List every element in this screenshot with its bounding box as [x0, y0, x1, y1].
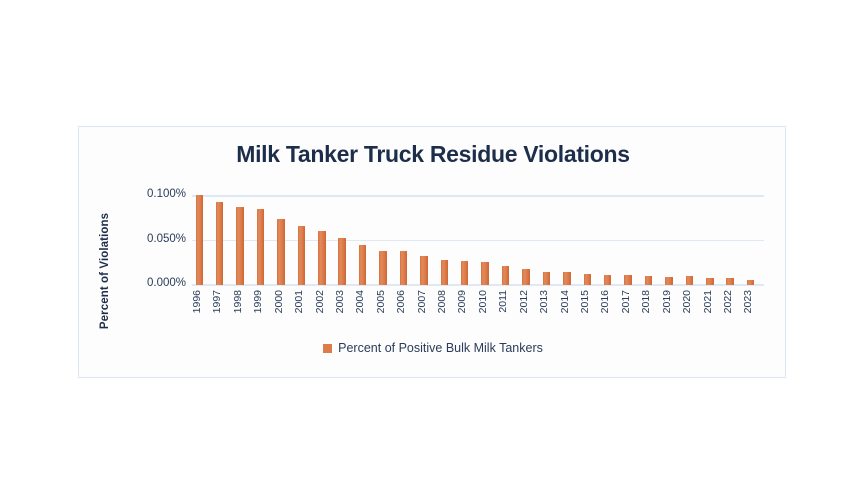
bar-slot	[662, 195, 682, 285]
x-tick-slot: 2012	[519, 287, 539, 333]
y-axis-title: Percent of Violations	[99, 196, 111, 346]
bar[interactable]	[318, 231, 326, 285]
bar-slot	[437, 195, 457, 285]
x-tick-label: 2008	[436, 290, 448, 324]
bar-slot	[294, 195, 314, 285]
x-tick-label: 2000	[273, 290, 285, 324]
bar-slot	[253, 195, 273, 285]
x-axis-tick-labels: 1996199719981999200020012002200320042005…	[192, 287, 764, 333]
bar-slot	[457, 195, 477, 285]
bar-slot	[519, 195, 539, 285]
x-tick-label: 2022	[722, 290, 734, 324]
y-axis-tick-labels: 0.100% 0.050% 0.000%	[120, 195, 186, 285]
x-tick-slot: 2022	[723, 287, 743, 333]
x-tick-label: 2020	[681, 290, 693, 324]
x-tick-slot: 2007	[417, 287, 437, 333]
bar-slot	[315, 195, 335, 285]
bar-slot	[192, 195, 212, 285]
bar[interactable]	[665, 277, 673, 285]
y-tick-label: 0.050%	[126, 233, 186, 245]
bar-slot	[723, 195, 743, 285]
x-tick-slot: 2005	[376, 287, 396, 333]
bar[interactable]	[726, 278, 734, 285]
bar-slot	[478, 195, 498, 285]
bar[interactable]	[441, 260, 449, 285]
screenshot-stage: Milk Tanker Truck Residue Violations Per…	[0, 0, 864, 504]
x-tick-label: 1999	[252, 290, 264, 324]
x-tick-slot: 2015	[580, 287, 600, 333]
bar-slot	[560, 195, 580, 285]
bar-slot	[355, 195, 375, 285]
x-tick-slot: 2002	[315, 287, 335, 333]
x-tick-label: 2023	[742, 290, 754, 324]
x-tick-label: 2016	[599, 290, 611, 324]
bar-slot	[396, 195, 416, 285]
bar[interactable]	[543, 272, 551, 285]
bar[interactable]	[604, 275, 612, 285]
x-tick-label: 2004	[354, 290, 366, 324]
x-tick-slot: 1998	[233, 287, 253, 333]
bar[interactable]	[461, 261, 469, 285]
x-tick-label: 2021	[702, 290, 714, 324]
x-tick-slot: 2023	[743, 287, 763, 333]
x-tick-label: 2015	[579, 290, 591, 324]
bar[interactable]	[522, 269, 530, 285]
x-tick-slot: 2013	[539, 287, 559, 333]
bar[interactable]	[584, 274, 592, 285]
bar[interactable]	[706, 278, 714, 285]
bar-slot	[539, 195, 559, 285]
x-tick-label: 1997	[211, 290, 223, 324]
bar-slot	[376, 195, 396, 285]
chart-title: Milk Tanker Truck Residue Violations	[79, 141, 787, 168]
bar[interactable]	[216, 202, 224, 285]
x-tick-slot: 2004	[355, 287, 375, 333]
bar[interactable]	[379, 251, 387, 285]
x-tick-slot: 2014	[560, 287, 580, 333]
x-tick-label: 2005	[375, 290, 387, 324]
legend-label: Percent of Positive Bulk Milk Tankers	[338, 341, 543, 355]
x-tick-slot: 2010	[478, 287, 498, 333]
x-tick-slot: 2009	[457, 287, 477, 333]
x-tick-slot: 2020	[682, 287, 702, 333]
x-tick-label: 2003	[334, 290, 346, 324]
x-tick-label: 2018	[640, 290, 652, 324]
bar-slot	[703, 195, 723, 285]
bar[interactable]	[624, 275, 632, 285]
x-tick-label: 2014	[559, 290, 571, 324]
bar-slot	[212, 195, 232, 285]
x-tick-label: 2019	[661, 290, 673, 324]
x-tick-slot: 2008	[437, 287, 457, 333]
x-tick-slot: 2019	[662, 287, 682, 333]
bar[interactable]	[236, 207, 244, 285]
bar[interactable]	[359, 245, 367, 285]
x-tick-slot: 2016	[600, 287, 620, 333]
x-tick-slot: 2018	[641, 287, 661, 333]
x-tick-slot: 2006	[396, 287, 416, 333]
x-tick-label: 2007	[416, 290, 428, 324]
x-tick-label: 1996	[191, 290, 203, 324]
x-tick-label: 2012	[518, 290, 530, 324]
x-tick-slot: 2000	[274, 287, 294, 333]
bar[interactable]	[686, 276, 694, 285]
x-tick-slot: 2011	[498, 287, 518, 333]
bar[interactable]	[257, 209, 265, 285]
bar-slot	[743, 195, 763, 285]
x-tick-label: 2017	[620, 290, 632, 324]
bar[interactable]	[338, 238, 346, 285]
bar-slot	[498, 195, 518, 285]
y-tick-label: 0.000%	[126, 277, 186, 289]
legend-swatch-icon	[323, 344, 332, 353]
bar-slot	[682, 195, 702, 285]
bar-slot	[621, 195, 641, 285]
x-tick-label: 2011	[497, 290, 509, 324]
y-tick-label: 0.100%	[126, 188, 186, 200]
bar[interactable]	[196, 195, 204, 285]
x-tick-slot: 2001	[294, 287, 314, 333]
x-tick-slot: 1996	[192, 287, 212, 333]
x-tick-slot: 2021	[703, 287, 723, 333]
x-tick-slot: 2003	[335, 287, 355, 333]
chart-legend: Percent of Positive Bulk Milk Tankers	[79, 341, 787, 355]
bar-slot	[600, 195, 620, 285]
chart-card: Milk Tanker Truck Residue Violations Per…	[78, 126, 786, 378]
bar-series	[192, 195, 764, 285]
x-tick-label: 2002	[314, 290, 326, 324]
x-tick-slot: 2017	[621, 287, 641, 333]
bar-slot	[233, 195, 253, 285]
x-tick-label: 2010	[477, 290, 489, 324]
x-tick-label: 2009	[456, 290, 468, 324]
bar[interactable]	[420, 256, 428, 285]
bar-slot	[335, 195, 355, 285]
bar[interactable]	[747, 280, 755, 285]
bar-slot	[580, 195, 600, 285]
x-tick-slot: 1999	[253, 287, 273, 333]
bar[interactable]	[277, 219, 285, 285]
bar-slot	[641, 195, 661, 285]
x-tick-label: 2001	[293, 290, 305, 324]
bar[interactable]	[563, 272, 571, 285]
bar-slot	[274, 195, 294, 285]
bar[interactable]	[400, 251, 408, 285]
bar[interactable]	[298, 226, 306, 285]
bar-slot	[417, 195, 437, 285]
bar[interactable]	[481, 262, 489, 285]
x-tick-label: 2006	[395, 290, 407, 324]
bar[interactable]	[645, 276, 653, 285]
x-tick-label: 1998	[232, 290, 244, 324]
x-tick-label: 2013	[538, 290, 550, 324]
bar[interactable]	[502, 266, 510, 285]
plot-area	[192, 195, 764, 285]
x-tick-slot: 1997	[212, 287, 232, 333]
